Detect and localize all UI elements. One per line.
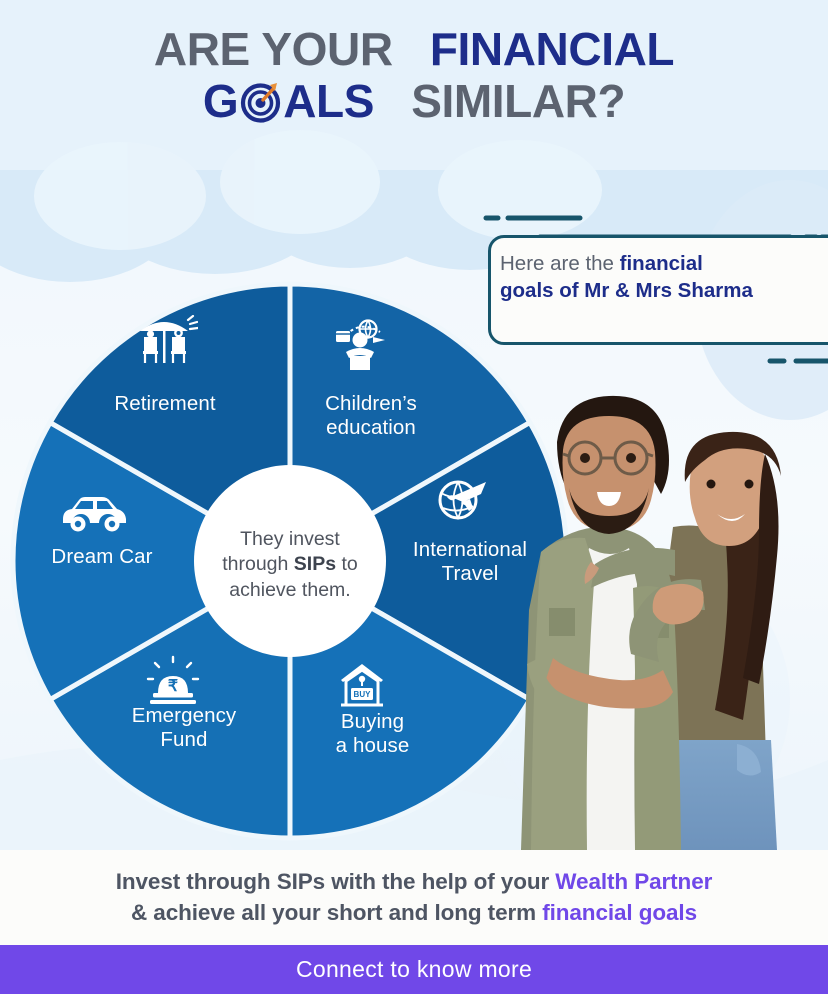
center-text-line-2a: through <box>222 553 294 575</box>
footer-financial-goals: financial goals <box>542 900 697 925</box>
headline-are-your: ARE YOUR <box>154 23 393 75</box>
headline-als: ALS <box>283 75 374 127</box>
connect-cta-bar[interactable]: Connect to know more <box>0 945 828 994</box>
footer-message-band: Invest through SIPs with the help of you… <box>0 850 828 945</box>
callout-text-bold-2: goals of Mr & Mrs Sharma <box>500 279 753 302</box>
center-text-line-3: achieve them. <box>229 579 350 601</box>
callout-text-plain: Here are the <box>500 252 620 275</box>
page-title: ARE YOUR FINANCIAL G ALS SIMILAR? <box>0 26 828 126</box>
center-text-sips: SIPs <box>294 553 336 575</box>
footer-message: Invest through SIPs with the help of you… <box>116 867 713 927</box>
footer-line-2a: & achieve all your short and long term <box>131 900 542 925</box>
footer-wealth-partner: Wealth Partner <box>555 869 712 894</box>
couple-photo <box>505 392 828 850</box>
callout-text-bold-1: financial <box>620 252 703 275</box>
target-dart-icon <box>237 78 284 125</box>
headline-financial: FINANCIAL <box>430 23 674 75</box>
center-text-line-2b: to <box>336 553 358 575</box>
infographic-canvas: ARE YOUR FINANCIAL G ALS SIMILAR? <box>0 0 828 994</box>
connect-cta-label: Connect to know more <box>296 956 532 983</box>
wheel-center-text: They invest through SIPs to achieve them… <box>197 510 383 620</box>
callout-speech-box: Here are the financial goals of Mr & Mrs… <box>470 205 828 370</box>
callout-text: Here are the financial goals of Mr & Mrs… <box>500 251 828 304</box>
headline-line-1: ARE YOUR FINANCIAL <box>0 26 828 74</box>
headline-similar: SIMILAR? <box>411 75 625 127</box>
headline-g: G <box>203 75 238 127</box>
headline-line-2: G ALS SIMILAR? <box>0 78 828 126</box>
center-text-line-1: They invest <box>240 528 340 550</box>
footer-line-1a: Invest through SIPs with the help of you… <box>116 869 556 894</box>
